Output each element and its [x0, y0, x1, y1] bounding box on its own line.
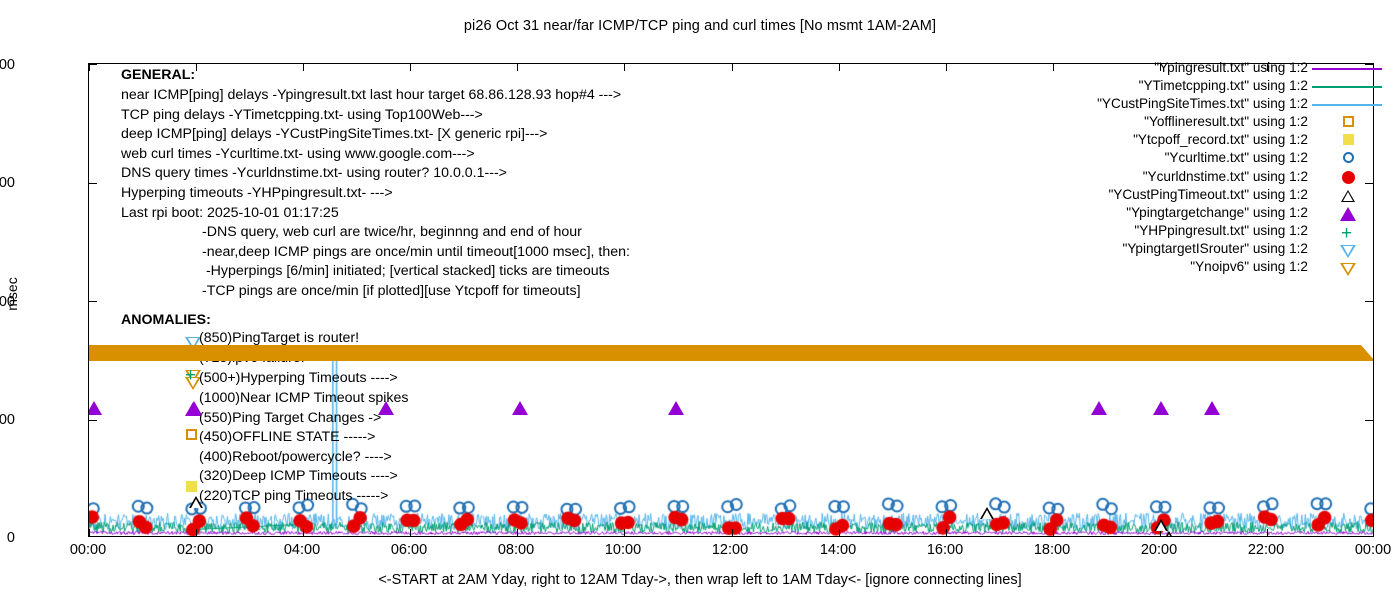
legend-label: "YCustPingTimeout.txt" using 1:2 — [1108, 187, 1308, 202]
legend-label: "YTimetcpping.txt" using 1:2 — [1139, 78, 1308, 93]
filled-square-yellow-icon — [186, 481, 197, 492]
y-tick-label-2000: 2000 — [0, 57, 15, 73]
y-tick-label-1500: 1500 — [0, 175, 15, 191]
general-line-0: near ICMP[ping] delays -Ypingresult.txt … — [121, 86, 621, 106]
x-tick-label-0: 00:00 — [53, 542, 123, 558]
legend-label: "Ycurldnstime.txt" using 1:2 — [1143, 169, 1308, 184]
plus-green-icon: + — [185, 370, 196, 382]
anomaly-label-6: (400)Reboot/powercycle? ----> — [199, 448, 392, 468]
legend-item-ynoipv6: "Ynoipv6" using 1:2 — [1008, 259, 1400, 277]
legend-item-ypingtargetchange: "Ypingtargetchange" using 1:2 — [1008, 205, 1400, 223]
general-line-4: DNS query times -Ycurldnstime.txt- using… — [121, 164, 507, 184]
ping-target-change-marker — [512, 401, 528, 415]
chart-title: pi26 Oct 31 near/far ICMP/TCP ping and c… — [0, 18, 1400, 34]
legend-item-ycustpingtimeout: "YCustPingTimeout.txt" using 1:2 — [1008, 187, 1400, 205]
legend-key-open-triangle-down-orange — [1312, 259, 1382, 277]
x-tick-label-4: 08:00 — [481, 542, 551, 558]
legend-label: "Ypingtargetchange" using 1:2 — [1126, 205, 1308, 220]
general-subline-2: -Hyperpings [6/min] initiated; [vertical… — [202, 262, 610, 282]
general-subline-3: -TCP pings are once/min [if plotted][use… — [202, 282, 581, 302]
legend-item-ytimetcpping: "YTimetcpping.txt" using 1:2 — [1008, 78, 1400, 96]
legend-item-yhppingresult: "YHPpingresult.txt" using 1:2 + — [1008, 223, 1400, 241]
general-heading: GENERAL: — [121, 66, 195, 86]
ping-target-change-marker — [1153, 401, 1169, 415]
x-tick-label-9: 18:00 — [1017, 542, 1087, 558]
anomaly-label-4: (550)Ping Target Changes -> — [199, 409, 381, 429]
general-line-5: Hyperping timeouts -YHPpingresult.txt- -… — [121, 184, 393, 204]
legend-item-yofflineresult: "Yofflineresult.txt" using 1:2 — [1008, 114, 1400, 132]
legend-item-ytcpoff-record: "Ytcpoff_record.txt" using 1:2 — [1008, 132, 1400, 150]
legend-key-open-square — [1312, 114, 1382, 132]
ynoipv6-band — [89, 345, 1374, 361]
x-axis-caption: <-START at 2AM Yday, right to 12AM Tday-… — [0, 572, 1400, 588]
y-tick-label-500: 500 — [0, 412, 15, 428]
y-tick-label-1000: 1000 — [0, 294, 15, 310]
ping-target-change-marker — [668, 401, 684, 415]
general-line-1: TCP ping delays -YTimetcpping.txt- using… — [121, 106, 483, 126]
legend-label: "YHPpingresult.txt" using 1:2 — [1134, 223, 1308, 238]
general-line-3: web curl times -Ycurltime.txt- using www… — [121, 145, 475, 165]
ipv6-band-right-notch — [1361, 345, 1374, 361]
x-tick-label-6: 12:00 — [695, 542, 765, 558]
legend-key-filled-triangle-up — [1312, 205, 1382, 223]
legend-key-line — [1312, 78, 1382, 96]
legend-label: "Ynoipv6" using 1:2 — [1190, 259, 1308, 274]
chart-root: pi26 Oct 31 near/far ICMP/TCP ping and c… — [0, 0, 1400, 600]
deep-icmp-timeout-marker — [980, 507, 994, 519]
general-subline-1: -near,deep ICMP pings are once/min until… — [202, 243, 630, 263]
open-square-orange-icon — [186, 429, 197, 440]
deep-icmp-timeout-marker — [1154, 519, 1168, 531]
legend-label: "Ycurltime.txt" using 1:2 — [1165, 150, 1308, 165]
legend-label: "Ytcpoff_record.txt" using 1:2 — [1133, 132, 1308, 147]
y-tick-label-0: 0 — [0, 530, 15, 546]
legend-label: "Yofflineresult.txt" using 1:2 — [1144, 114, 1308, 129]
legend-key-line — [1312, 60, 1382, 78]
ping-target-change-marker — [378, 401, 394, 415]
legend: "Ypingresult.txt" using 1:2 "YTimetcppin… — [1008, 60, 1400, 277]
ping-target-change-marker — [1091, 401, 1107, 415]
legend-key-filled-circle — [1312, 169, 1382, 187]
x-tick-label-8: 16:00 — [910, 542, 980, 558]
legend-key-filled-square — [1312, 132, 1382, 150]
x-tick-label-12: 00:00 — [1338, 542, 1400, 558]
legend-key-open-triangle-up — [1312, 187, 1382, 205]
x-tick-label-3: 06:00 — [374, 542, 444, 558]
x-tick-label-1: 02:00 — [160, 542, 230, 558]
legend-key-plus: + — [1312, 223, 1382, 241]
legend-label: "Ypingresult.txt" using 1:2 — [1154, 60, 1308, 75]
x-tick-label-5: 10:00 — [588, 542, 658, 558]
ping-target-change-marker — [186, 401, 202, 415]
anomaly-label-8: (220)TCP ping Timeouts -----> — [199, 487, 388, 507]
general-line-2: deep ICMP[ping] delays -YCustPingSiteTim… — [121, 125, 547, 145]
general-line-6: Last rpi boot: 2025-10-01 01:17:25 — [121, 204, 339, 224]
anomalies-heading: ANOMALIES: — [121, 311, 211, 331]
anomaly-label-7: (320)Deep ICMP Timeouts ----> — [199, 467, 398, 487]
x-tick-label-2: 04:00 — [267, 542, 337, 558]
legend-key-open-triangle-down-blue — [1312, 241, 1382, 259]
anomaly-label-3: (1000)Near ICMP Timeout spikes — [199, 389, 408, 409]
legend-item-ycustpingsitetimes: "YCustPingSiteTimes.txt" using 1:2 — [1008, 96, 1400, 114]
legend-item-ycurldnstime: "Ycurldnstime.txt" using 1:2 — [1008, 169, 1400, 187]
legend-key-line — [1312, 96, 1382, 114]
deep-icmp-timeout-marker — [1162, 531, 1176, 537]
legend-item-ycurltime: "Ycurltime.txt" using 1:2 — [1008, 150, 1400, 168]
legend-item-ypingresult: "Ypingresult.txt" using 1:2 — [1008, 60, 1400, 78]
x-tick-label-7: 14:00 — [803, 542, 873, 558]
general-subline-0: -DNS query, web curl are twice/hr, begin… — [202, 223, 582, 243]
legend-label: "YpingtargetISrouter" using 1:2 — [1123, 241, 1308, 256]
x-tick-label-10: 20:00 — [1124, 542, 1194, 558]
legend-key-open-circle — [1312, 150, 1382, 168]
legend-label: "YCustPingSiteTimes.txt" using 1:2 — [1097, 96, 1308, 111]
anomaly-label-2: (500+)Hyperping Timeouts ----> — [199, 369, 398, 389]
ping-target-change-marker — [1204, 401, 1220, 415]
anomaly-label-5: (450)OFFLINE STATE -----> — [199, 428, 375, 448]
legend-item-ypingtargetisrouter: "YpingtargetISrouter" using 1:2 — [1008, 241, 1400, 259]
x-tick-label-11: 22:00 — [1231, 542, 1301, 558]
ping-target-change-marker — [88, 401, 102, 415]
